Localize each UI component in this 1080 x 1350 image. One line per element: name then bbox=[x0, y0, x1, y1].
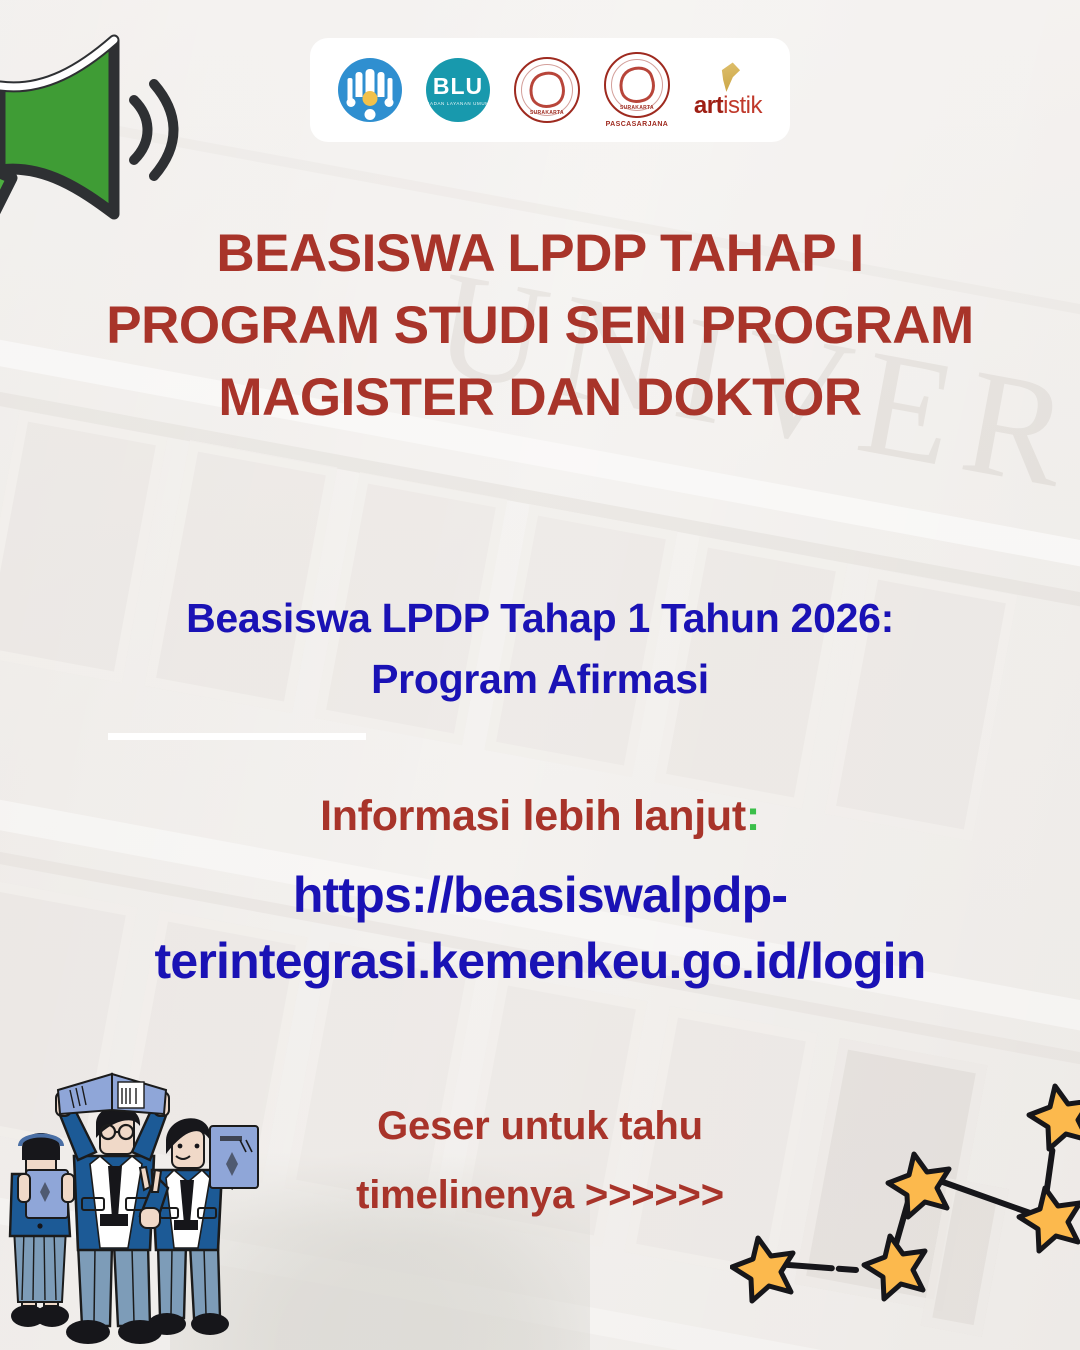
subheadline-line-2: Program Afirmasi bbox=[60, 649, 1020, 710]
headline: BEASISWA LPDP TAHAP I PROGRAM STUDI SENI… bbox=[40, 218, 1040, 434]
artistik-wordmark: artistik bbox=[694, 94, 762, 118]
megaphone-illustration bbox=[0, 18, 196, 233]
kemdikbud-tutwuri-logo bbox=[338, 58, 402, 122]
blu-logo: BLU BADAN LAYANAN UMUM bbox=[426, 58, 490, 122]
headline-line-1: BEASISWA LPDP TAHAP I bbox=[40, 218, 1040, 290]
subheadline: Beasiswa LPDP Tahap 1 Tahun 2026: Progra… bbox=[60, 588, 1020, 709]
poster-root: UNIVERSITY BLU BADAN LAYANAN UMUM bbox=[0, 0, 1080, 1350]
info-url[interactable]: https://beasiswalpdp- terintegrasi.kemen… bbox=[40, 862, 1040, 994]
seal-bottom-text: SURAKARTA bbox=[606, 105, 668, 111]
isi-surakarta-pascasarjana-seal: SURAKARTA bbox=[604, 52, 670, 118]
logo-slot-blu: BLU BADAN LAYANAN UMUM bbox=[426, 38, 490, 142]
isi-surakarta-seal: SURAKARTA bbox=[514, 57, 580, 123]
headline-line-2: PROGRAM STUDI SENI PROGRAM bbox=[40, 290, 1040, 362]
student-boy-right bbox=[140, 1118, 258, 1335]
students-illustration bbox=[0, 1048, 268, 1350]
seal-bottom-text: SURAKARTA bbox=[516, 110, 578, 116]
logo-slot-isi-pascasarjana: SURAKARTA PASCASARJANA bbox=[604, 38, 670, 142]
subheadline-line-1: Beasiswa LPDP Tahap 1 Tahun 2026: bbox=[60, 588, 1020, 649]
info-url-line-2[interactable]: terintegrasi.kemenkeu.go.id/login bbox=[40, 928, 1040, 994]
flame-icon bbox=[715, 61, 741, 94]
logo-slot-kemdikbud bbox=[338, 38, 402, 142]
info-url-line-1[interactable]: https://beasiswalpdp- bbox=[40, 862, 1040, 928]
logo-slot-isi: SURAKARTA bbox=[514, 38, 580, 142]
seal-caption: PASCASARJANA bbox=[606, 121, 669, 128]
info-label-colon: : bbox=[746, 792, 760, 840]
logo-slot-artistik: artistik bbox=[694, 38, 762, 142]
logo-bar: BLU BADAN LAYANAN UMUM SURAKARTA SURAKAR… bbox=[310, 38, 790, 142]
artistik-word-bold: art bbox=[694, 92, 723, 119]
student-girl bbox=[10, 1133, 74, 1327]
artistik-word-light: istik bbox=[723, 92, 762, 119]
star-constellation-illustration bbox=[730, 1078, 1080, 1328]
info-label: Informasi lebih lanjut: bbox=[60, 792, 1020, 841]
divider-rule bbox=[108, 733, 366, 740]
blu-logo-subtitle: BADAN LAYANAN UMUM bbox=[426, 101, 489, 106]
headline-line-3: MAGISTER DAN DOKTOR bbox=[40, 362, 1040, 434]
artistik-logo: artistik bbox=[694, 62, 762, 118]
info-label-text: Informasi lebih lanjut bbox=[320, 792, 746, 840]
blu-logo-mark: BLU bbox=[433, 75, 483, 98]
